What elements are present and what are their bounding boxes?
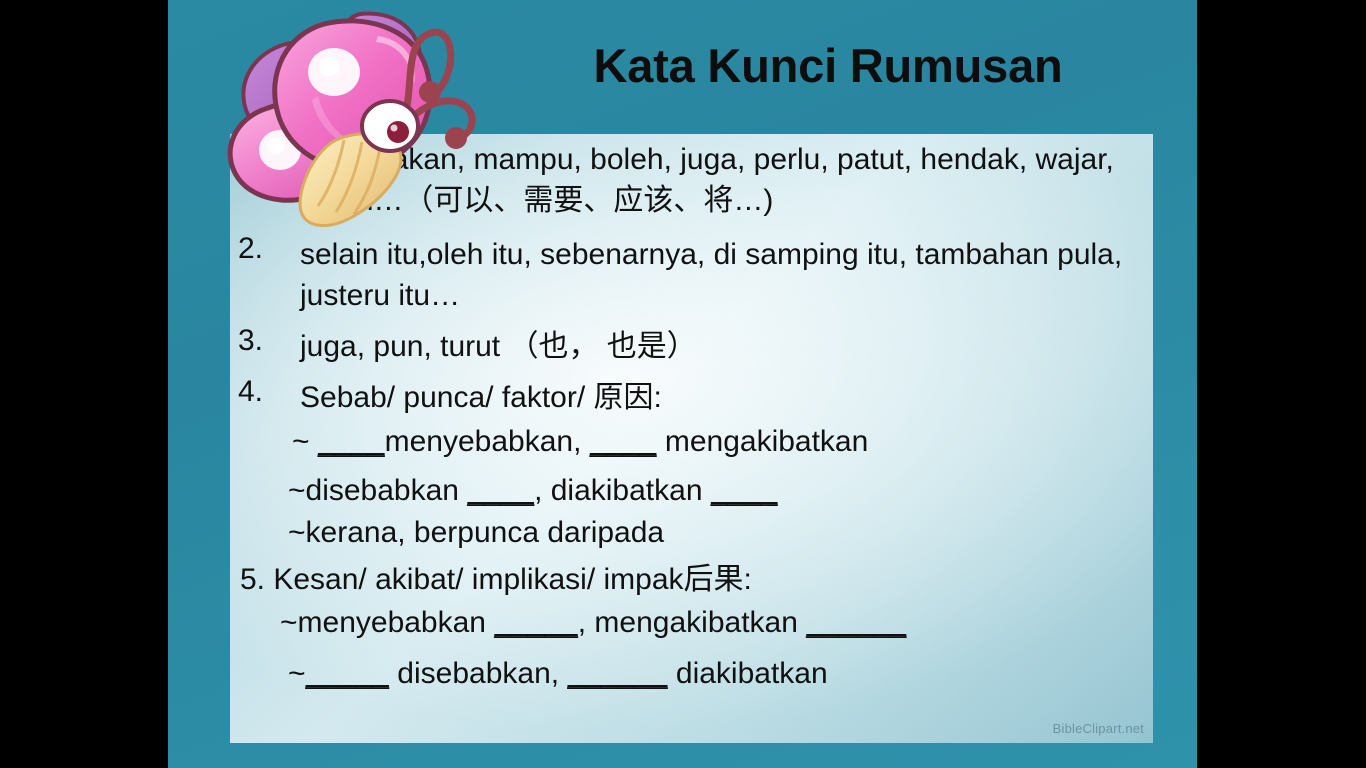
sub-prefix: ~	[288, 657, 306, 690]
list-item-text: selain itu,oleh itu, sebenarnya, di samp…	[300, 234, 1138, 317]
page-title: Kata Kunci Rumusan	[498, 40, 1158, 92]
list-item: 2. selain itu,oleh itu, sebenarnya, di s…	[238, 234, 1138, 317]
sub-mid: , diakibatkan	[534, 474, 711, 507]
list-item-marker: 3.	[238, 326, 300, 356]
butterfly-wing-back-left	[243, 43, 337, 137]
list-item-marker: 1.	[238, 139, 300, 169]
sub-prefix: ~disebabkan	[288, 474, 467, 507]
list-item-marker: 4.	[238, 377, 300, 407]
sub-mid: menyebabkan,	[385, 425, 590, 458]
sub-list-item: ~kerana, berpunca daripada	[288, 512, 664, 553]
list-item-text: 5. Kesan/ akibat/ implikasi/ impak后果:	[240, 563, 752, 596]
content-list: 1. dapat, akan, mampu, boleh, juga, perl…	[230, 134, 1153, 743]
sub-prefix: ~kerana, berpunca daripada	[288, 516, 664, 549]
list-item-text: Sebab/ punca/ faktor/ 原因:	[300, 377, 1138, 418]
watermark-text: BibleClipart.net	[1053, 721, 1144, 736]
list-item: 1. dapat, akan, mampu, boleh, juga, perl…	[238, 139, 1138, 222]
presentation-slide: Kata Kunci Rumusan 1. dapat, akan, mampu…	[0, 0, 1366, 768]
slide-canvas: Kata Kunci Rumusan 1. dapat, akan, mampu…	[168, 0, 1197, 768]
fill-blank: _____	[494, 606, 577, 639]
list-item: 4. Sebab/ punca/ faktor/ 原因:	[238, 377, 1138, 418]
list-item-marker: 2.	[238, 234, 300, 264]
sub-list-item: ~ ____menyebabkan, ____ mengakibatkan	[292, 421, 868, 462]
sub-prefix: ~menyebabkan	[280, 606, 494, 639]
list-item: 5. Kesan/ akibat/ implikasi/ impak后果:	[240, 559, 752, 600]
fill-blank: ____	[590, 425, 657, 458]
sub-list-item: ~disebabkan ____, diakibatkan ____	[288, 470, 778, 511]
antenna-tip-left	[419, 81, 441, 103]
sub-mid: , mengakibatkan	[578, 606, 806, 639]
butterfly-wing-back-right	[335, 13, 420, 100]
sub-tail: diakibatkan	[668, 657, 828, 690]
fill-blank: ______	[806, 606, 906, 639]
fill-blank: ______	[567, 657, 667, 690]
list-item: 3. juga, pun, turut （也， 也是）	[238, 326, 1138, 367]
fill-blank: ____	[711, 474, 778, 507]
fill-blank: ____	[467, 474, 534, 507]
sub-tail: mengakibatkan	[657, 425, 869, 458]
list-item-text: juga, pun, turut （也， 也是）	[300, 326, 1138, 367]
list-item-text: dapat, akan, mampu, boleh, juga, perlu, …	[300, 139, 1138, 222]
sub-list-item: ~menyebabkan _____, mengakibatkan ______	[280, 602, 906, 643]
butterfly-antennae	[404, 32, 472, 138]
sub-mid: disebabkan,	[389, 657, 567, 690]
sub-prefix: ~	[292, 425, 318, 458]
fill-blank: ____	[318, 425, 385, 458]
sub-list-item: ~_____ disebabkan, ______ diakibatkan	[288, 653, 828, 694]
fill-blank: _____	[306, 657, 389, 690]
content-panel: 1. dapat, akan, mampu, boleh, juga, perl…	[230, 134, 1153, 743]
